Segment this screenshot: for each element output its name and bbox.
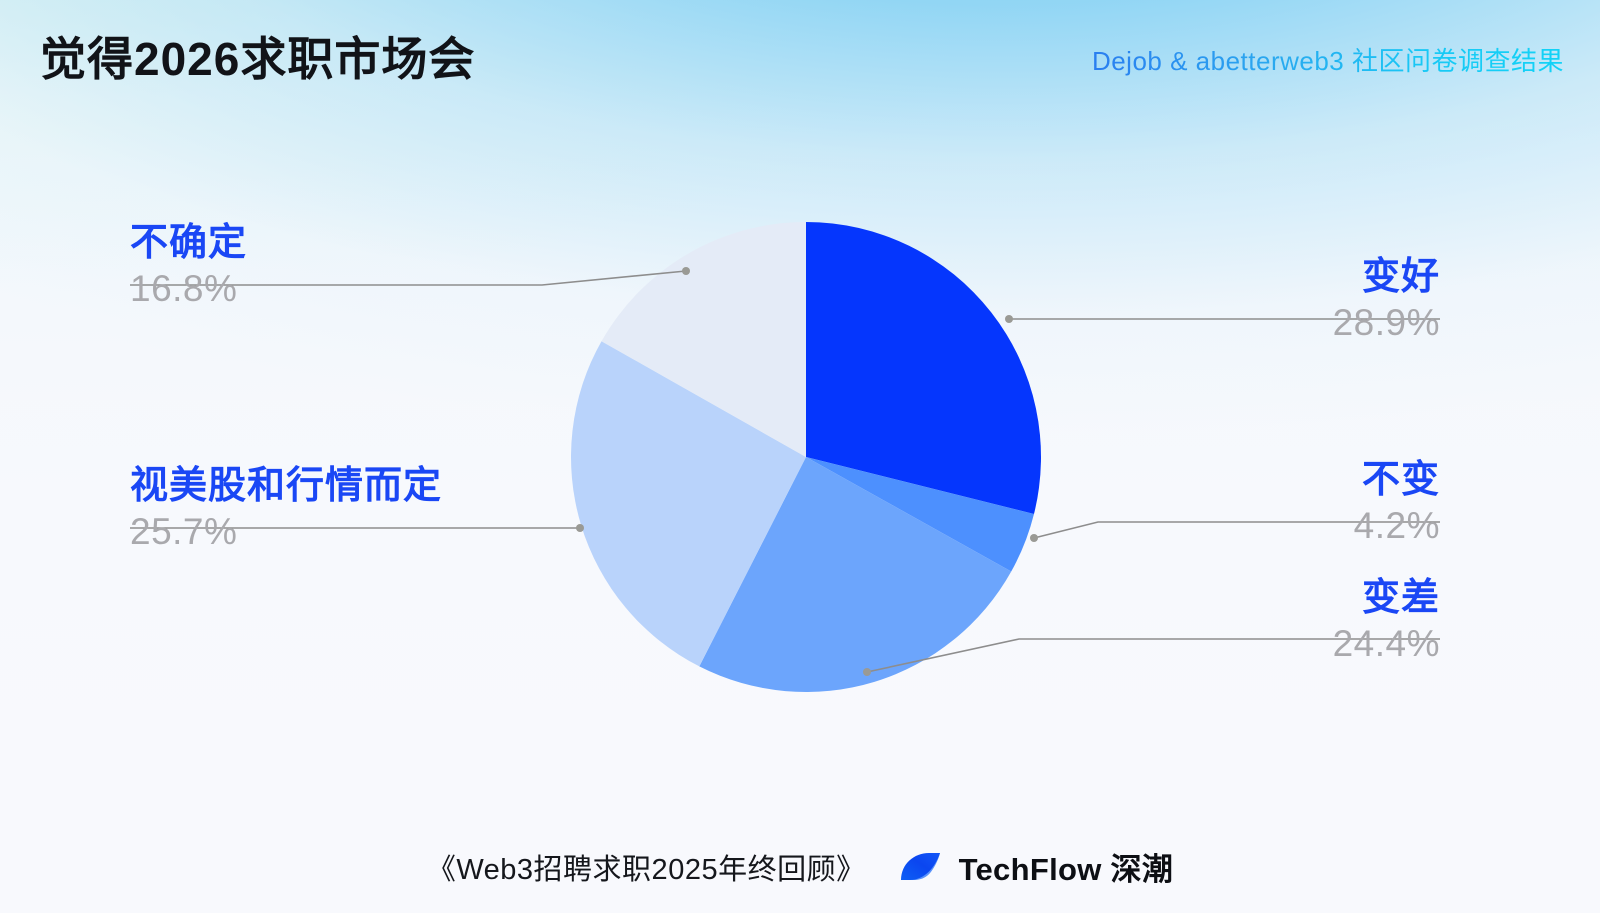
leader-dot-bubian [1030,534,1038,542]
callout-label-buqueding: 不确定 [130,224,247,264]
footer: 《Web3招聘求职2025年终回顾》 TechFlow 深潮 [0,844,1600,889]
leader-dot-buqueding [682,267,690,275]
callout-shimeigu: 视美股和行情而定 25.7% [130,467,442,552]
leader-dot-biancha [863,668,871,676]
callout-value-bubian: 4.2% [1354,505,1440,546]
callout-label-biancha: 变差 [1333,579,1440,619]
callout-buqueding: 不确定 16.8% [130,224,247,309]
footer-report-title: 《Web3招聘求职2025年终回顾》 [427,846,866,888]
techflow-leaf-icon [888,847,946,887]
callout-value-biancha: 24.4% [1333,623,1440,664]
brand-lockup: TechFlow 深潮 [888,844,1174,889]
callout-label-shimeigu: 视美股和行情而定 [130,467,442,507]
pie-chart [0,0,1600,913]
leader-dot-shimeigu [576,524,584,532]
callout-biancha: 变差 24.4% [1333,579,1440,664]
callout-bianhao: 变好 28.9% [1333,258,1440,343]
leader-dot-bianhao [1005,315,1013,323]
callout-value-buqueding: 16.8% [130,268,247,309]
callout-bubian: 不变 4.2% [1354,461,1440,546]
callout-label-bianhao: 变好 [1333,258,1440,298]
callout-value-bianhao: 28.9% [1333,302,1440,343]
callout-label-bubian: 不变 [1354,461,1440,501]
techflow-leaf-icon-svg [888,847,946,887]
pie-slice-group [571,222,1041,692]
brand-name: TechFlow 深潮 [959,844,1174,889]
callout-value-shimeigu: 25.7% [130,511,442,552]
